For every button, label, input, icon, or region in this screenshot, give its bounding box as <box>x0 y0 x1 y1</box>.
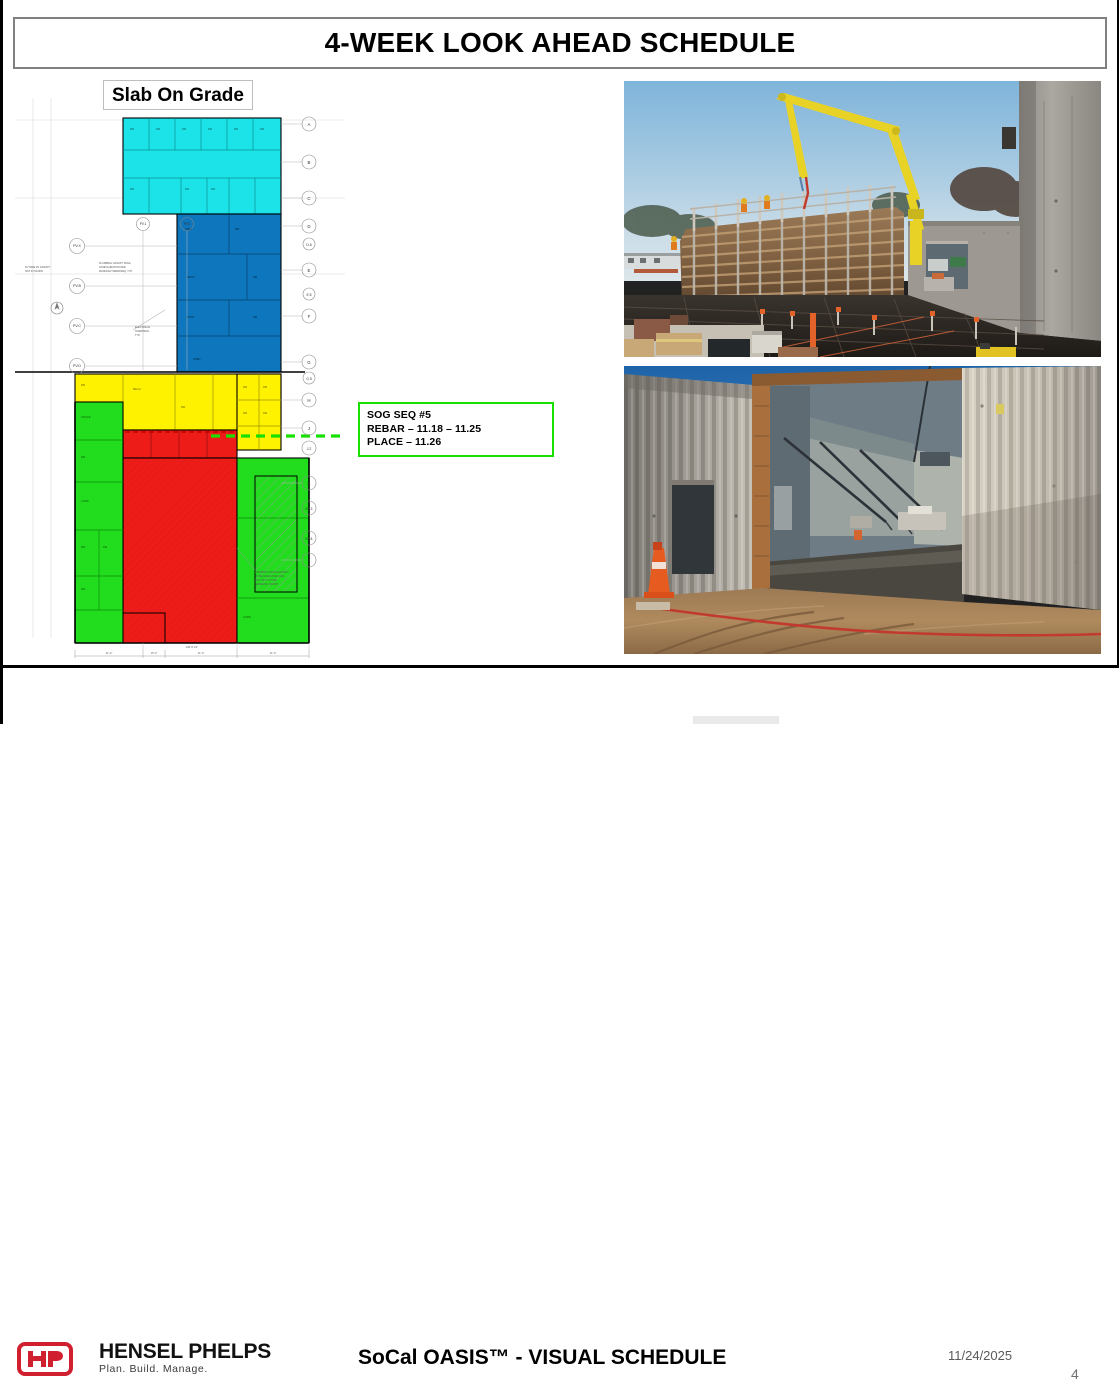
svg-text:A: A <box>308 122 311 127</box>
svg-text:PLUMBING CANOPY FINAL: PLUMBING CANOPY FINAL <box>99 262 132 265</box>
svg-text:CONFIGURATION PER: CONFIGURATION PER <box>99 266 126 269</box>
svg-text:RM: RM <box>81 383 85 387</box>
svg-text:B: B <box>308 160 311 165</box>
svg-text:RM: RM <box>263 411 267 415</box>
svg-text:RM: RM <box>263 385 267 389</box>
svg-text:PV.1: PV.1 <box>140 222 147 226</box>
svg-text:TO BE DEVELOPED AND: TO BE DEVELOPED AND <box>255 575 284 578</box>
svg-text:RM: RM <box>130 187 134 191</box>
svg-text:INTERIOR CONFIGURATION: INTERIOR CONFIGURATION <box>255 571 289 574</box>
slide: 4-WEEK LOOK AHEAD SCHEDULE <box>0 0 1119 724</box>
svg-text:G: G <box>307 360 311 365</box>
footer-bar: HENSEL PHELPS Plan. Build. Manage. SoCal… <box>3 668 1119 724</box>
callout-line-3: PLACE – 11.26 <box>367 436 552 450</box>
grid-bubbles-right: AB CD D.6E E.5F GG.5 HJ <box>302 117 316 435</box>
svg-text:RM: RM <box>243 411 247 415</box>
svg-text:OVERHANG: OVERHANG <box>135 330 149 333</box>
svg-text:RM: RM <box>81 587 85 591</box>
svg-text:PV.X: PV.X <box>73 244 81 248</box>
brand-block: HENSEL PHELPS Plan. Build. Manage. <box>99 1340 271 1376</box>
svg-text:TYP.: TYP. <box>135 334 141 337</box>
svg-text:41'-0": 41'-0" <box>198 651 205 655</box>
svg-text:BUILT BY FUTURE: BUILT BY FUTURE <box>255 579 277 582</box>
svg-text:RM: RM <box>208 127 212 131</box>
svg-text:F: F <box>308 314 311 319</box>
floor-plan-drawing: RMRMRM RMRMRM RMRMRM AREARM <box>15 78 345 658</box>
company-tagline: Plan. Build. Manage. <box>99 1363 271 1376</box>
right-tiltup-panel <box>962 366 1101 610</box>
svg-text:PV.C: PV.C <box>73 324 81 328</box>
svg-text:RM: RM <box>103 545 107 549</box>
svg-text:RM: RM <box>211 187 215 191</box>
svg-text:NOT IN SCOPE: NOT IN SCOPE <box>25 270 43 273</box>
svg-text:MANUFACTURER REQ. TYP.: MANUFACTURER REQ. TYP. <box>99 270 133 273</box>
svg-text:RM: RM <box>234 127 238 131</box>
plan-compass-icon <box>51 302 63 314</box>
svg-text:E.5: E.5 <box>306 293 311 297</box>
svg-text:PV.D: PV.D <box>73 364 81 368</box>
svg-text:PV.2: PV.2 <box>184 222 191 226</box>
svg-text:J.2: J.2 <box>307 447 312 451</box>
footer-accent-block <box>693 716 779 724</box>
svg-text:CORR: CORR <box>243 615 251 619</box>
svg-text:H: H <box>307 398 310 403</box>
svg-text:RM: RM <box>253 275 257 279</box>
svg-text:41'-0": 41'-0" <box>106 651 113 655</box>
svg-text:15'-0": 15'-0" <box>151 651 158 655</box>
footer-date: 11/24/2025 <box>948 1348 1012 1363</box>
slide-title-box: 4-WEEK LOOK AHEAD SCHEDULE <box>13 17 1107 69</box>
svg-text:OPEN: OPEN <box>193 357 200 361</box>
photo-concrete-pump-boom <box>624 81 1101 357</box>
svg-text:PV.B: PV.B <box>73 284 81 288</box>
svg-text:L: L <box>308 558 311 563</box>
svg-text:J: J <box>308 426 310 431</box>
svg-text:D: D <box>307 224 310 229</box>
photo-tiltup-walls-braces <box>624 366 1101 654</box>
svg-text:RM: RM <box>185 187 189 191</box>
svg-text:RM: RM <box>81 545 85 549</box>
svg-text:RM: RM <box>156 127 160 131</box>
plan-zone-cyan: RMRMRM RMRMRM RMRMRM <box>123 118 281 214</box>
page-title: 4-WEEK LOOK AHEAD SCHEDULE <box>325 27 796 59</box>
svg-text:41'-0": 41'-0" <box>270 651 277 655</box>
svg-text:RM: RM <box>181 405 185 409</box>
hensel-phelps-logo-icon <box>17 1342 73 1376</box>
svg-text:KK.3: KK.3 <box>306 507 313 511</box>
svg-text:MECH: MECH <box>133 387 141 391</box>
svg-text:SEPARATE TENANT: SEPARATE TENANT <box>255 583 279 586</box>
plan-title-box: Slab On Grade <box>103 80 253 110</box>
callout-line-2: REBAR – 11.18 – 11.25 <box>367 423 552 437</box>
sog-sequence-callout: SOG SEQ #5 REBAR – 11.18 – 11.25 PLACE –… <box>358 402 554 457</box>
svg-text:RM: RM <box>130 127 134 131</box>
grid-bubbles-pv: PV.XPV.B PV.CPV.D PV.1PV.2 <box>70 218 194 374</box>
svg-text:OFFICE: OFFICE <box>81 415 91 419</box>
svg-text:RM: RM <box>81 455 85 459</box>
svg-text:RM: RM <box>260 127 264 131</box>
footer-project-title: SoCal OASIS™ - VISUAL SCHEDULE <box>358 1346 828 1370</box>
slide-number: 4 <box>1071 1366 1079 1382</box>
svg-text:RM: RM <box>253 315 257 319</box>
svg-text:RM: RM <box>243 385 247 389</box>
svg-text:MECH: MECH <box>187 275 195 279</box>
plan-title-label: Slab On Grade <box>112 86 244 105</box>
company-name: HENSEL PHELPS <box>99 1340 271 1363</box>
svg-text:E: E <box>308 268 311 273</box>
svg-text:C: C <box>307 196 310 201</box>
callout-line-1: SOG SEQ #5 <box>367 409 552 423</box>
svg-text:FUTURE PV CANOPY: FUTURE PV CANOPY <box>25 266 51 269</box>
svg-text:G.5: G.5 <box>306 377 312 381</box>
svg-text:KK.8: KK.8 <box>306 537 313 541</box>
svg-text:D.6: D.6 <box>306 243 311 247</box>
plan-zone-red <box>123 430 237 643</box>
svg-text:K: K <box>308 481 311 486</box>
svg-text:198'-8 1/2": 198'-8 1/2" <box>186 645 198 649</box>
svg-text:STOR: STOR <box>187 315 194 319</box>
svg-text:CORR: CORR <box>81 499 89 503</box>
svg-text:RM: RM <box>182 127 186 131</box>
svg-text:RM: RM <box>235 227 239 231</box>
plan-zone-blue: AREARM MECHRM STORRM OPEN <box>177 214 281 372</box>
left-tiltup-panel <box>624 374 764 598</box>
